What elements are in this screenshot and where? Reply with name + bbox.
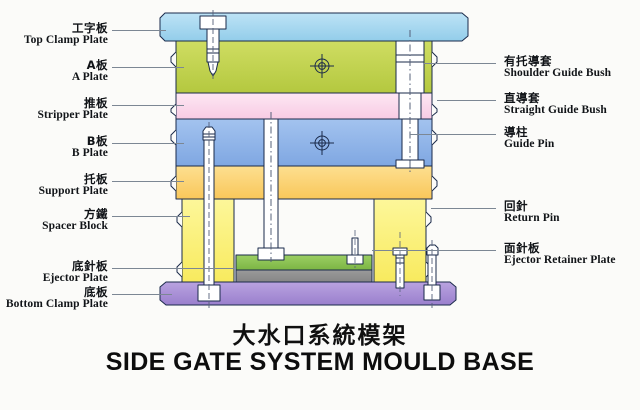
- leader-spacer-block: [112, 216, 190, 217]
- label-top-clamp-plate-cn: 工字板: [24, 22, 108, 34]
- label-a-plate-cn: A板: [72, 59, 108, 71]
- diagram-title-cn: 大水口系統模架: [0, 316, 640, 350]
- leader-return-pin: [431, 208, 496, 209]
- leader-stripper-plate: [112, 105, 184, 106]
- label-return-pin-cn: 回針: [504, 200, 560, 212]
- label-shoulder-guide-bush: 有托導套 Shoulder Guide Bush: [504, 55, 611, 80]
- label-ejector-retainer-plate: 面針板 Ejector Retainer Plate: [504, 242, 616, 267]
- label-b-plate: B板 B Plate: [72, 135, 108, 160]
- leader-guide-pin: [410, 134, 496, 135]
- label-guide-pin-en: Guide Pin: [504, 138, 554, 150]
- label-straight-guide-bush-cn: 直導套: [504, 92, 607, 104]
- leader-top-clamp-plate: [112, 30, 166, 31]
- label-stripper-plate-en: Stripper Plate: [38, 109, 109, 121]
- leader-shoulder-guide-bush: [424, 63, 496, 64]
- label-a-plate-en: A Plate: [72, 71, 108, 83]
- leader-bottom-clamp-plate: [112, 294, 172, 295]
- leader-a-plate: [112, 67, 184, 68]
- plate-stripper: [176, 93, 432, 119]
- label-bottom-clamp-plate: 底板 Bottom Clamp Plate: [6, 286, 108, 311]
- label-shoulder-guide-bush-en: Shoulder Guide Bush: [504, 67, 611, 79]
- label-top-clamp-plate-en: Top Clamp Plate: [24, 34, 108, 46]
- leader-straight-guide-bush: [437, 100, 496, 101]
- label-b-plate-en: B Plate: [72, 147, 108, 159]
- leader-ejector-plate: [112, 268, 234, 269]
- label-return-pin-en: Return Pin: [504, 212, 560, 224]
- label-ejector-plate-cn: 底針板: [43, 260, 108, 272]
- label-support-plate-en: Support Plate: [39, 185, 108, 197]
- label-guide-pin-cn: 導柱: [504, 126, 554, 138]
- label-top-clamp-plate: 工字板 Top Clamp Plate: [24, 22, 108, 47]
- label-spacer-block-cn: 方鐵: [42, 208, 108, 220]
- label-ejector-retainer-plate-en: Ejector Retainer Plate: [504, 254, 616, 266]
- label-b-plate-cn: B板: [72, 135, 108, 147]
- label-shoulder-guide-bush-cn: 有托導套: [504, 55, 611, 67]
- label-bottom-clamp-plate-en: Bottom Clamp Plate: [6, 298, 108, 310]
- label-guide-pin: 導柱 Guide Pin: [504, 126, 554, 151]
- label-spacer-block-en: Spacer Block: [42, 220, 108, 232]
- label-ejector-plate-en: Ejector Plate: [43, 272, 108, 284]
- leader-ejector-retainer-plate: [372, 250, 496, 251]
- label-support-plate: 托板 Support Plate: [39, 173, 108, 198]
- label-spacer-block: 方鐵 Spacer Block: [42, 208, 108, 233]
- label-return-pin: 回針 Return Pin: [504, 200, 560, 225]
- diagram-title-en: SIDE GATE SYSTEM MOULD BASE: [0, 348, 640, 377]
- label-stripper-plate-cn: 推板: [38, 97, 109, 109]
- label-straight-guide-bush: 直導套 Straight Guide Bush: [504, 92, 607, 117]
- label-stripper-plate: 推板 Stripper Plate: [38, 97, 109, 122]
- leader-support-plate: [112, 181, 184, 182]
- label-ejector-plate: 底針板 Ejector Plate: [43, 260, 108, 285]
- label-ejector-retainer-plate-cn: 面針板: [504, 242, 616, 254]
- label-bottom-clamp-plate-cn: 底板: [6, 286, 108, 298]
- label-a-plate: A板 A Plate: [72, 59, 108, 84]
- leader-b-plate: [112, 143, 184, 144]
- label-support-plate-cn: 托板: [39, 173, 108, 185]
- label-straight-guide-bush-en: Straight Guide Bush: [504, 104, 607, 116]
